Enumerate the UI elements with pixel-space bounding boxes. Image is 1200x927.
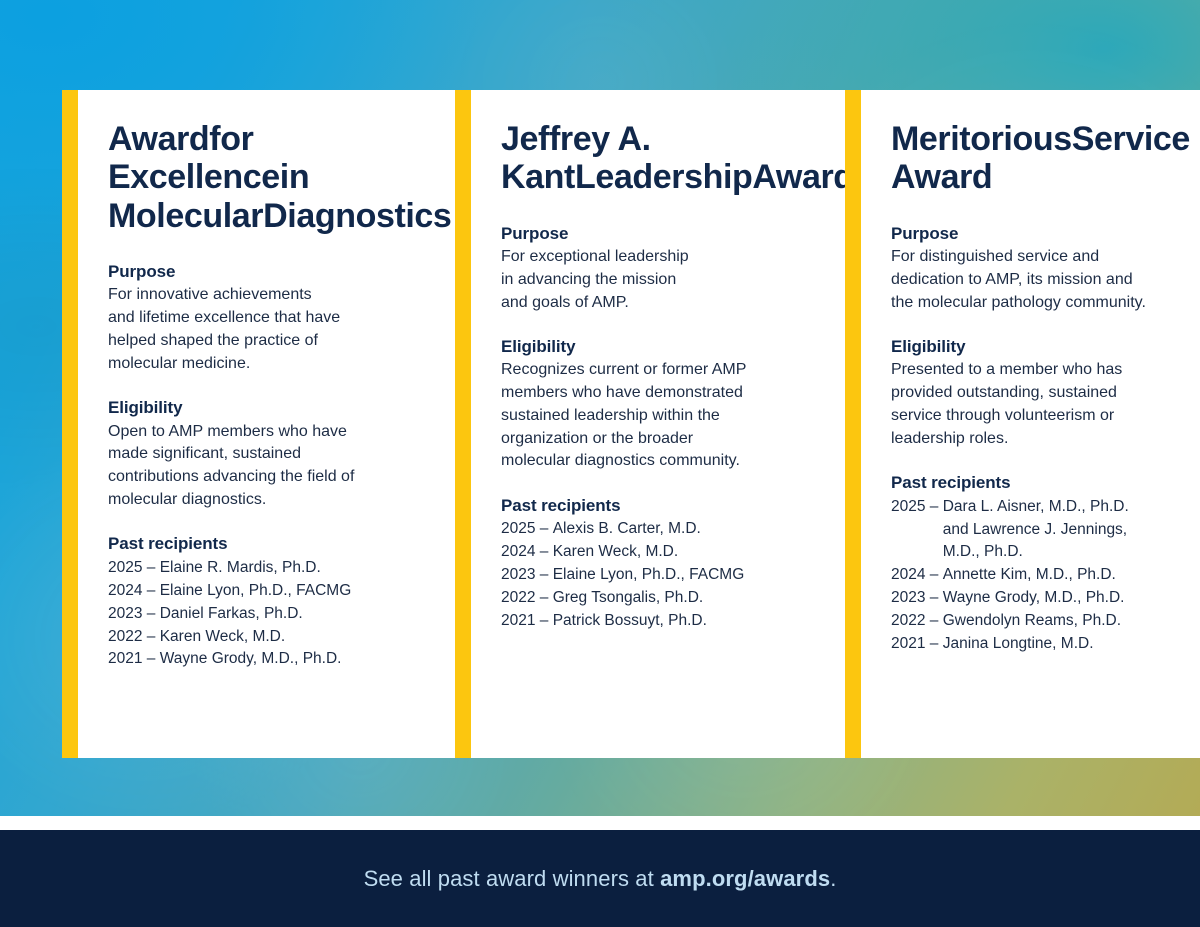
purpose-section: Purpose For exceptional leadershipin adv… — [501, 223, 854, 314]
recipient-row: 2022 – Gwendolyn Reams, Ph.D. — [891, 610, 1190, 633]
eligibility-heading: Eligibility — [501, 336, 854, 357]
text-line: provided outstanding, sustained — [891, 382, 1190, 405]
purpose-text: For exceptional leadershipin advancing t… — [501, 246, 854, 314]
recipient-year: 2025 – — [501, 518, 553, 541]
purpose-text: For distinguished service anddedication … — [891, 246, 1190, 314]
award-cards-row: Awardfor Excellencein MolecularDiagnosti… — [0, 0, 1200, 816]
card-title: MeritoriousService Award — [891, 120, 1190, 197]
text-line: the molecular pathology community. — [891, 292, 1190, 315]
footer-callout: See all past award winners at amp.org/aw… — [364, 866, 837, 892]
recipient-year: 2023 – — [501, 564, 553, 587]
recipient-row: 2025 – Dara L. Aisner, M.D., Ph.D.and La… — [891, 496, 1190, 565]
past-recipients-list: 2025 – Alexis B. Carter, M.D.2024 – Kare… — [501, 518, 854, 633]
recipient-row: 2025 – Elaine R. Mardis, Ph.D. — [108, 557, 451, 580]
card-accent-bar — [845, 90, 861, 758]
text-line: Meritorious — [891, 120, 1072, 158]
text-line: in advancing the mission — [501, 269, 854, 292]
recipient-year: 2024 – — [891, 564, 943, 587]
recipient-row: 2021 – Janina Longtine, M.D. — [891, 633, 1190, 656]
recipient-year: 2022 – — [891, 610, 943, 633]
recipient-name: Karen Weck, M.D. — [553, 541, 854, 564]
recipient-name: Janina Longtine, M.D. — [943, 633, 1190, 656]
card-title: Awardfor Excellencein MolecularDiagnosti… — [108, 120, 451, 235]
recipient-name: Wayne Grody, M.D., Ph.D. — [943, 587, 1190, 610]
award-card-kant-leadership: Jeffrey A. KantLeadershipAward Purpose F… — [455, 90, 779, 758]
recipient-name: Greg Tsongalis, Ph.D. — [553, 587, 854, 610]
recipient-name: Dara L. Aisner, M.D., Ph.D.and Lawrence … — [943, 496, 1190, 565]
recipient-name: Alexis B. Carter, M.D. — [553, 518, 854, 541]
text-line: service through volunteerism or — [891, 405, 1190, 428]
past-recipients-list: 2025 – Elaine R. Mardis, Ph.D.2024 – Ela… — [108, 557, 451, 672]
purpose-text: For innovative achievementsand lifetime … — [108, 284, 451, 375]
recipient-name-continuation: M.D., Ph.D. — [943, 541, 1190, 564]
text-line: and lifetime excellence that have — [108, 307, 451, 330]
purpose-heading: Purpose — [501, 223, 854, 244]
text-line: For innovative achievements — [108, 284, 451, 307]
card-body: Jeffrey A. KantLeadershipAward Purpose F… — [471, 90, 880, 758]
purpose-heading: Purpose — [108, 261, 451, 282]
past-recipients-heading: Past recipients — [891, 472, 1190, 493]
card-accent-bar — [455, 90, 471, 758]
recipient-row: 2024 – Annette Kim, M.D., Ph.D. — [891, 564, 1190, 587]
text-line: For distinguished service and — [891, 246, 1190, 269]
recipient-name: Daniel Farkas, Ph.D. — [160, 603, 452, 626]
purpose-heading: Purpose — [891, 223, 1190, 244]
footer-url-link[interactable]: amp.org/awards — [660, 866, 830, 891]
recipient-name: Annette Kim, M.D., Ph.D. — [943, 564, 1190, 587]
recipient-year: 2025 – — [891, 496, 943, 565]
recipient-year: 2023 – — [891, 587, 943, 610]
purpose-section: Purpose For innovative achievementsand l… — [108, 261, 451, 375]
text-line: Presented to a member who has — [891, 359, 1190, 382]
text-line: Open to AMP members who have — [108, 421, 451, 444]
recipient-name: Elaine Lyon, Ph.D., FACMG — [553, 564, 854, 587]
past-recipients-heading: Past recipients — [108, 533, 451, 554]
recipient-year: 2025 – — [108, 557, 160, 580]
eligibility-section: Eligibility Presented to a member who ha… — [891, 336, 1190, 450]
award-card-excellence: Awardfor Excellencein MolecularDiagnosti… — [62, 90, 386, 758]
recipient-year: 2024 – — [501, 541, 553, 564]
recipient-year: 2023 – — [108, 603, 160, 626]
text-line: molecular medicine. — [108, 353, 451, 376]
eligibility-text: Recognizes current or former AMPmembers … — [501, 359, 854, 473]
recipient-row: 2024 – Karen Weck, M.D. — [501, 541, 854, 564]
past-recipients-section: Past recipients 2025 – Alexis B. Carter,… — [501, 495, 854, 633]
eligibility-text: Open to AMP members who havemade signifi… — [108, 421, 451, 512]
card-body: MeritoriousService Award Purpose For dis… — [861, 90, 1200, 758]
recipient-name: Elaine Lyon, Ph.D., FACMG — [160, 580, 452, 603]
footer-separator — [0, 816, 1200, 830]
recipient-name-continuation: and Lawrence J. Jennings, — [943, 519, 1190, 542]
card-body: Awardfor Excellencein MolecularDiagnosti… — [78, 90, 477, 758]
text-line: Leadership — [575, 158, 752, 196]
recipient-name: Patrick Bossuyt, Ph.D. — [553, 610, 854, 633]
eligibility-section: Eligibility Open to AMP members who have… — [108, 397, 451, 511]
recipient-year: 2021 – — [891, 633, 943, 656]
card-accent-bar — [62, 90, 78, 758]
text-line: Recognizes current or former AMP — [501, 359, 854, 382]
footer-trail-text: . — [830, 866, 836, 891]
text-line: made significant, sustained — [108, 443, 451, 466]
text-line: molecular diagnostics. — [108, 489, 451, 512]
text-line: For exceptional leadership — [501, 246, 854, 269]
recipient-row: 2023 – Wayne Grody, M.D., Ph.D. — [891, 587, 1190, 610]
purpose-section: Purpose For distinguished service andded… — [891, 223, 1190, 314]
eligibility-section: Eligibility Recognizes current or former… — [501, 336, 854, 473]
past-recipients-section: Past recipients 2025 – Elaine R. Mardis,… — [108, 533, 451, 671]
text-line: Award — [752, 158, 853, 196]
recipient-year: 2024 – — [108, 580, 160, 603]
eligibility-text: Presented to a member who hasprovided ou… — [891, 359, 1190, 450]
recipient-year: 2021 – — [108, 648, 160, 671]
text-line: Diagnostics — [263, 197, 451, 235]
recipient-row: 2024 – Elaine Lyon, Ph.D., FACMG — [108, 580, 451, 603]
card-title: Jeffrey A. KantLeadershipAward — [501, 120, 854, 197]
recipient-year: 2021 – — [501, 610, 553, 633]
eligibility-heading: Eligibility — [891, 336, 1190, 357]
footer-lead-text: See all past award winners at — [364, 866, 661, 891]
text-line: organization or the broader — [501, 428, 854, 451]
recipient-row: 2021 – Patrick Bossuyt, Ph.D. — [501, 610, 854, 633]
recipient-row: 2023 – Daniel Farkas, Ph.D. — [108, 603, 451, 626]
recipient-name: Elaine R. Mardis, Ph.D. — [160, 557, 452, 580]
text-line: molecular diagnostics community. — [501, 450, 854, 473]
text-line: sustained leadership within the — [501, 405, 854, 428]
awards-poster: Awardfor Excellencein MolecularDiagnosti… — [0, 0, 1200, 927]
text-line: and goals of AMP. — [501, 292, 854, 315]
past-recipients-heading: Past recipients — [501, 495, 854, 516]
award-card-meritorious-service: MeritoriousService Award Purpose For dis… — [845, 90, 1169, 758]
recipient-name: Wayne Grody, M.D., Ph.D. — [160, 648, 452, 671]
recipient-name: Gwendolyn Reams, Ph.D. — [943, 610, 1190, 633]
recipient-year: 2022 – — [108, 626, 160, 649]
footer-bar: See all past award winners at amp.org/aw… — [0, 830, 1200, 927]
recipient-row: 2025 – Alexis B. Carter, M.D. — [501, 518, 854, 541]
text-line: leadership roles. — [891, 428, 1190, 451]
recipient-row: 2021 – Wayne Grody, M.D., Ph.D. — [108, 648, 451, 671]
past-recipients-list: 2025 – Dara L. Aisner, M.D., Ph.D.and La… — [891, 496, 1190, 657]
text-line: members who have demonstrated — [501, 382, 854, 405]
eligibility-heading: Eligibility — [108, 397, 451, 418]
recipient-name: Karen Weck, M.D. — [160, 626, 452, 649]
text-line: Award — [108, 120, 209, 158]
text-line: contributions advancing the field of — [108, 466, 451, 489]
recipient-row: 2022 – Karen Weck, M.D. — [108, 626, 451, 649]
recipient-year: 2022 – — [501, 587, 553, 610]
recipient-row: 2023 – Elaine Lyon, Ph.D., FACMG — [501, 564, 854, 587]
text-line: helped shaped the practice of — [108, 330, 451, 353]
text-line: dedication to AMP, its mission and — [891, 269, 1190, 292]
recipient-row: 2022 – Greg Tsongalis, Ph.D. — [501, 587, 854, 610]
past-recipients-section: Past recipients 2025 – Dara L. Aisner, M… — [891, 472, 1190, 656]
